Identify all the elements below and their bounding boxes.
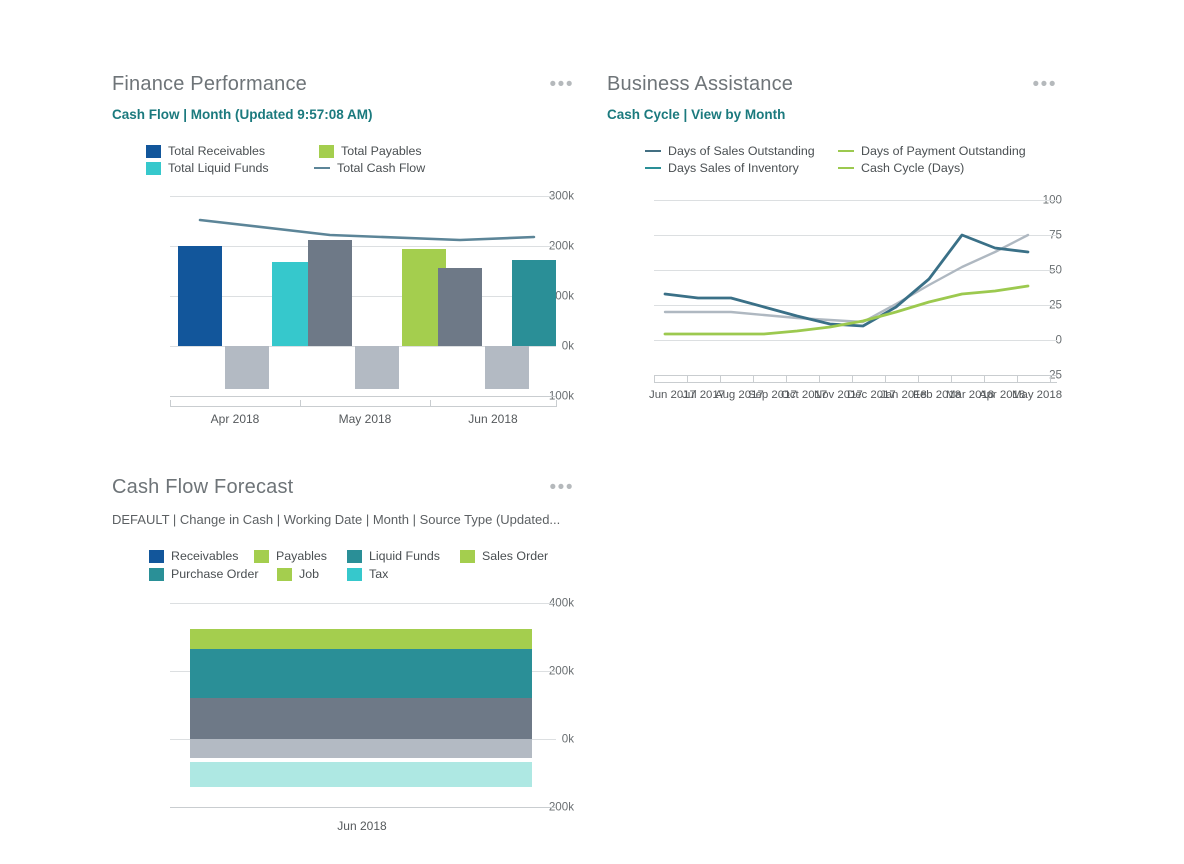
x-axis-label: Feb 2018 xyxy=(913,388,945,402)
legend-business: Days of Sales Outstanding Days of Paymen… xyxy=(645,144,1075,175)
card-subtitle: Cash Flow | Month (Updated 9:57:08 AM) xyxy=(112,107,574,123)
x-axis-label: Nov 2017 xyxy=(814,388,846,402)
legend-item[interactable]: Receivables xyxy=(149,549,254,563)
x-axis-tick xyxy=(1050,376,1051,383)
x-axis-tick xyxy=(918,376,919,383)
gridline xyxy=(170,807,556,808)
legend-finance: Total Receivables Total Payables Total L… xyxy=(146,144,576,175)
legend-item[interactable]: Cash Cycle (Days) xyxy=(838,161,1068,175)
x-axis-label: Mar 2018 xyxy=(946,388,978,402)
x-axis-label: Apr 2018 xyxy=(979,388,1011,402)
legend-label: Total Payables xyxy=(341,144,422,158)
x-axis-tick xyxy=(753,376,754,383)
x-axis-tick xyxy=(300,400,301,407)
x-axis-tick xyxy=(170,400,171,407)
x-axis-tick xyxy=(819,376,820,383)
lines-cash-cycle xyxy=(607,190,1062,442)
legend-swatch-icon xyxy=(146,145,161,158)
legend-item[interactable]: Payables xyxy=(254,549,347,563)
stack-segment-tax[interactable] xyxy=(190,762,532,787)
x-axis-tick xyxy=(951,376,952,383)
legend-item[interactable]: Sales Order xyxy=(460,549,575,563)
legend-item[interactable]: Total Liquid Funds xyxy=(146,161,296,175)
more-options-icon[interactable]: ••• xyxy=(550,80,574,90)
x-axis-line xyxy=(654,382,1057,383)
legend-item[interactable]: Job xyxy=(277,567,347,581)
legend-item[interactable]: Days Sales of Inventory xyxy=(645,161,838,175)
legend-swatch-icon xyxy=(347,568,362,581)
chart-cash-flow: 300k 200k 100k 0k -100k xyxy=(112,190,574,442)
legend-label: Total Liquid Funds xyxy=(168,161,269,175)
x-axis-tick xyxy=(556,400,557,407)
x-axis-label: Dec 2017 xyxy=(847,388,879,402)
x-axis-tick xyxy=(984,376,985,383)
x-axis-label: Apr 2018 xyxy=(170,412,300,426)
x-axis-tick xyxy=(885,376,886,383)
legend-item[interactable]: Days of Sales Outstanding xyxy=(645,144,838,158)
legend-line-icon xyxy=(314,167,330,170)
chart-cash-flow-forecast: 400k 200k 0k -200k Jun 2018 xyxy=(112,593,574,845)
x-axis-tick xyxy=(687,376,688,383)
legend-item[interactable]: Tax xyxy=(347,567,417,581)
legend-label: Payables xyxy=(276,549,327,563)
x-axis-label: May 2018 xyxy=(300,412,430,426)
card-subtitle: DEFAULT | Change in Cash | Working Date … xyxy=(112,512,574,528)
legend-swatch-icon xyxy=(347,550,362,563)
x-axis-label: Jul 2017 xyxy=(682,388,714,402)
page-title: Business Assistance xyxy=(607,72,1062,96)
legend-swatch-icon xyxy=(149,568,164,581)
legend-label: Job xyxy=(299,567,319,581)
legend-swatch-icon xyxy=(146,162,161,175)
x-axis-label: Jan 2018 xyxy=(880,388,912,402)
legend-label: Receivables xyxy=(171,549,239,563)
x-axis-label: Sep 2017 xyxy=(748,388,780,402)
x-axis-label: Oct 2017 xyxy=(781,388,813,402)
legend-item[interactable]: Liquid Funds xyxy=(347,549,460,563)
legend-item[interactable]: Total Cash Flow xyxy=(314,161,469,175)
x-axis-label: Aug 2017 xyxy=(715,388,747,402)
legend-line-icon xyxy=(645,167,661,170)
legend-item[interactable]: Days of Payment Outstanding xyxy=(838,144,1068,158)
legend-item[interactable]: Total Receivables xyxy=(146,144,301,158)
legend-forecast: Receivables Payables Liquid Funds Sales … xyxy=(149,549,579,581)
gridline xyxy=(170,603,556,604)
x-axis-label: Jun 2018 xyxy=(292,819,432,833)
x-axis-tick xyxy=(654,376,655,383)
legend-label: Total Receivables xyxy=(168,144,265,158)
stack-segment-payables[interactable] xyxy=(190,629,532,649)
legend-item[interactable]: Total Payables xyxy=(319,144,457,158)
page-title: Cash Flow Forecast xyxy=(112,475,574,499)
legend-item[interactable]: Purchase Order xyxy=(149,567,277,581)
x-axis-tick xyxy=(430,400,431,407)
x-axis-label: Jun 2018 xyxy=(428,412,558,426)
legend-label: Liquid Funds xyxy=(369,549,440,563)
stack-segment-liquid-funds[interactable] xyxy=(190,649,532,698)
stack-segment-purchase-order[interactable] xyxy=(190,739,532,758)
legend-label: Days Sales of Inventory xyxy=(668,161,799,175)
legend-label: Sales Order xyxy=(482,549,548,563)
legend-label: Days of Payment Outstanding xyxy=(861,144,1026,158)
legend-swatch-icon xyxy=(149,550,164,563)
dashboard-page: ••• Finance Performance Cash Flow | Mont… xyxy=(0,0,1184,864)
x-axis-label: May 2018 xyxy=(1012,388,1044,402)
card-business-assistance: ••• Business Assistance Cash Cycle | Vie… xyxy=(607,72,1062,442)
x-axis-tick xyxy=(852,376,853,383)
x-axis-label: Jun 2017 xyxy=(649,388,681,402)
more-options-icon[interactable]: ••• xyxy=(1033,80,1057,90)
legend-swatch-icon xyxy=(460,550,475,563)
legend-swatch-icon xyxy=(277,568,292,581)
x-axis-tick xyxy=(720,376,721,383)
chart-cash-cycle: 100 75 50 25 0 -25 xyxy=(607,190,1062,442)
legend-label: Tax xyxy=(369,567,388,581)
legend-label: Purchase Order xyxy=(171,567,258,581)
legend-label: Total Cash Flow xyxy=(337,161,425,175)
line-total-cash-flow xyxy=(112,190,574,442)
more-options-icon[interactable]: ••• xyxy=(550,483,574,493)
legend-line-icon xyxy=(645,150,661,153)
x-axis-tick xyxy=(786,376,787,383)
page-title: Finance Performance xyxy=(112,72,574,96)
legend-label: Cash Cycle (Days) xyxy=(861,161,964,175)
stack-segment-receivables[interactable] xyxy=(190,698,532,739)
legend-swatch-icon xyxy=(254,550,269,563)
card-subtitle: Cash Cycle | View by Month xyxy=(607,107,1062,123)
legend-label: Days of Sales Outstanding xyxy=(668,144,815,158)
x-axis-tick xyxy=(1017,376,1018,383)
legend-line-icon xyxy=(838,167,854,170)
card-finance-performance: ••• Finance Performance Cash Flow | Mont… xyxy=(112,72,574,442)
legend-swatch-icon xyxy=(319,145,334,158)
legend-line-icon xyxy=(838,150,854,153)
x-axis-line xyxy=(170,406,556,407)
card-cash-flow-forecast: ••• Cash Flow Forecast DEFAULT | Change … xyxy=(112,475,574,845)
